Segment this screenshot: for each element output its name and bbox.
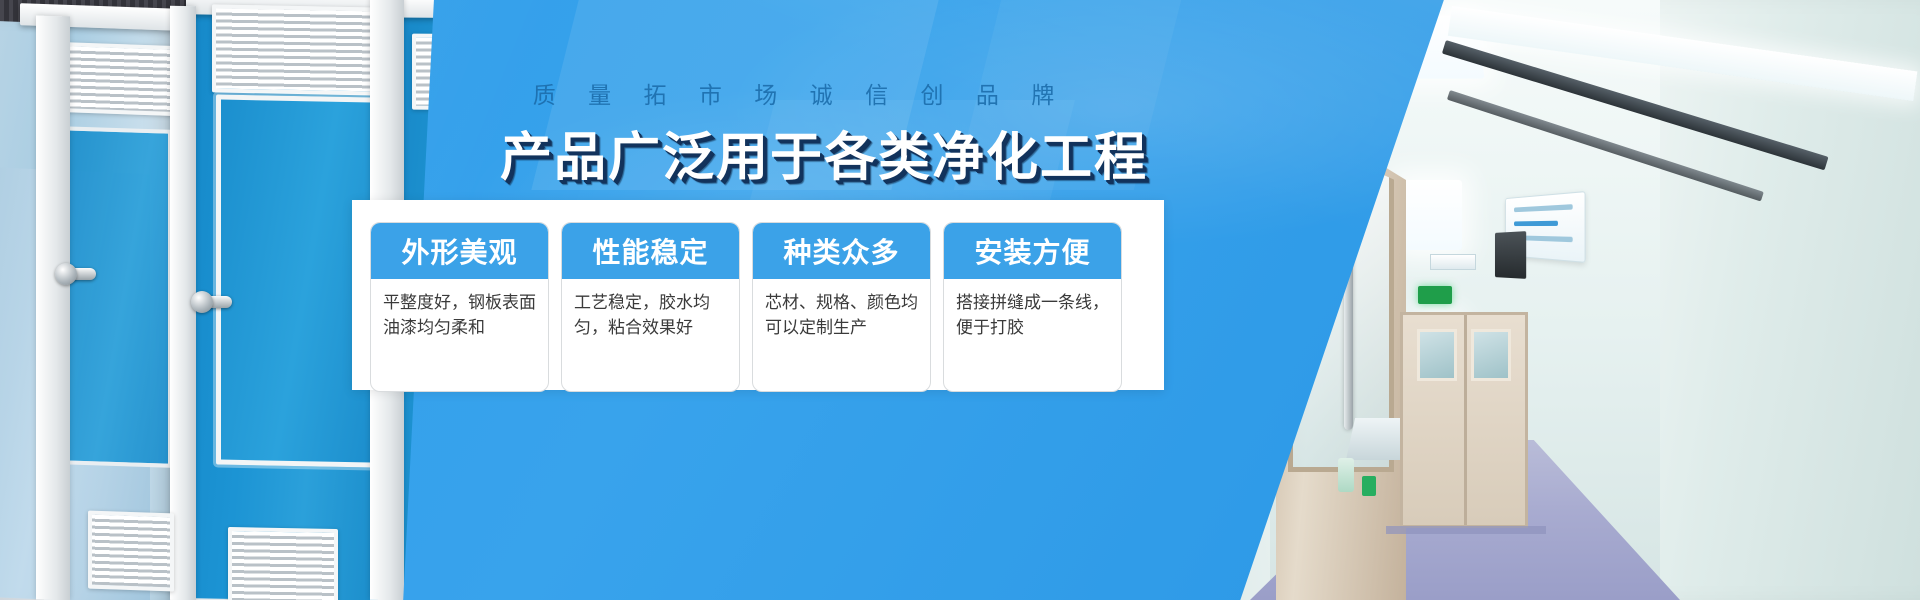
feature-card-title: 外形美观 — [371, 223, 548, 279]
feature-card[interactable]: 性能稳定 工艺稳定，胶水均匀，粘合效果好 — [561, 222, 740, 392]
feature-card-title: 安装方便 — [944, 223, 1121, 279]
feature-card-text: 芯材、规格、颜色均可以定制生产 — [753, 279, 930, 391]
feature-card-text: 工艺稳定，胶水均匀，粘合效果好 — [562, 279, 739, 391]
feature-card-title: 种类众多 — [753, 223, 930, 279]
promo-banner: 质 量 拓 市 场 诚 信 创 品 牌 产品广泛用于各类净化工程 外形美观 平整… — [0, 0, 1920, 600]
feature-card-text: 平整度好，钢板表面油漆均匀柔和 — [371, 279, 548, 391]
feature-card-text: 搭接拼缝成一条线，便于打胶 — [944, 279, 1121, 391]
banner-tagline: 质 量 拓 市 场 诚 信 创 品 牌 — [520, 76, 1080, 110]
feature-cards-strip: 外形美观 平整度好，钢板表面油漆均匀柔和 性能稳定 工艺稳定，胶水均匀，粘合效果… — [352, 200, 1164, 390]
feature-card-title: 性能稳定 — [562, 223, 739, 279]
feature-card[interactable]: 种类众多 芯材、规格、颜色均可以定制生产 — [752, 222, 931, 392]
banner-headline: 产品广泛用于各类净化工程 — [500, 115, 1100, 190]
feature-card[interactable]: 外形美观 平整度好，钢板表面油漆均匀柔和 — [370, 222, 549, 392]
feature-card[interactable]: 安装方便 搭接拼缝成一条线，便于打胶 — [943, 222, 1122, 392]
